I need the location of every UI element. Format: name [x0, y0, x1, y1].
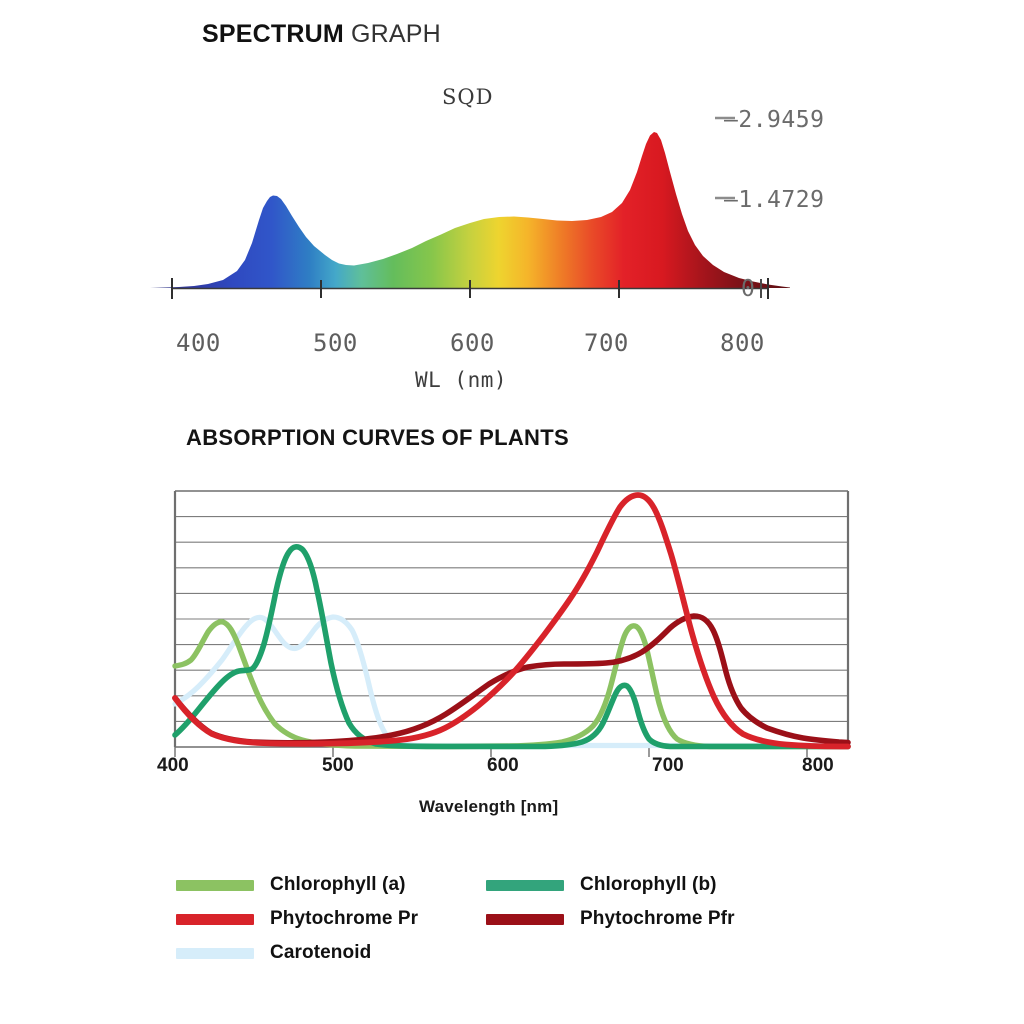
page-title-light: GRAPH — [344, 20, 441, 48]
legend-label: Phytochrome Pfr — [580, 908, 735, 930]
legend-swatch-icon — [486, 880, 564, 891]
legend-item-chlorophyll-b[interactable]: Chlorophyll (b) — [486, 874, 796, 896]
absorption-x-tick-label-600: 600 — [487, 755, 519, 777]
spectrum-x-tick-label-700: 700 — [584, 329, 629, 357]
legend-label: Carotenoid — [270, 942, 371, 964]
curve-chlorophyll-a — [175, 622, 848, 747]
legend-item-chlorophyll-a[interactable]: Chlorophyll (a) — [176, 874, 486, 896]
legend-label: Chlorophyll (b) — [580, 874, 717, 896]
absorption-x-axis-title: Wavelength [nm] — [419, 797, 558, 817]
spectrum-x-tick-label-600: 600 — [450, 329, 495, 357]
spectrum-x-axis-title: WL (nm) — [415, 368, 507, 392]
absorption-chart-title: ABSORPTION CURVES OF PLANTS — [186, 425, 569, 451]
spectrum-y-tick-label-high: —2.9459 — [724, 107, 824, 133]
legend-label: Chlorophyll (a) — [270, 874, 406, 896]
spectrum-y-tick-label-zero: 0 — [741, 276, 755, 302]
legend-swatch-icon — [486, 914, 564, 925]
spectrum-graph-page: SPECTRUM GRAPH SQD — [0, 0, 1024, 1024]
spectrum-x-tick-label-800: 800 — [720, 329, 765, 357]
spectrum-y-tick-label-mid: —1.4729 — [724, 187, 824, 213]
legend-item-phytochrome-pr[interactable]: Phytochrome Pr — [176, 908, 486, 930]
legend-row: Phytochrome Pr Phytochrome Pfr — [176, 902, 816, 936]
spectrum-chart — [150, 100, 790, 310]
legend-item-carotenoid[interactable]: Carotenoid — [176, 942, 486, 964]
page-title-strong: SPECTRUM — [202, 20, 344, 48]
legend-row: Chlorophyll (a) Chlorophyll (b) — [176, 868, 816, 902]
legend-swatch-icon — [176, 948, 254, 959]
spd-curve — [150, 132, 790, 288]
page-title: SPECTRUM GRAPH — [202, 20, 441, 49]
legend-item-phytochrome-pfr[interactable]: Phytochrome Pfr — [486, 908, 796, 930]
absorption-x-tick-label-700: 700 — [652, 755, 684, 777]
legend-swatch-icon — [176, 914, 254, 925]
absorption-gridlines — [175, 517, 848, 722]
legend-row: Carotenoid — [176, 936, 816, 970]
legend-swatch-icon — [176, 880, 254, 891]
spectrum-x-tick-label-400: 400 — [176, 329, 221, 357]
absorption-x-tick-label-800: 800 — [802, 755, 834, 777]
legend-label: Phytochrome Pr — [270, 908, 418, 930]
curve-phytochrome-pr — [175, 495, 848, 747]
absorption-x-tick-label-400: 400 — [157, 755, 189, 777]
absorption-chart — [150, 480, 870, 770]
absorption-x-tick-label-500: 500 — [322, 755, 354, 777]
spectrum-x-tick-label-500: 500 — [313, 329, 358, 357]
chart-legend: Chlorophyll (a) Chlorophyll (b) Phytochr… — [176, 868, 816, 970]
